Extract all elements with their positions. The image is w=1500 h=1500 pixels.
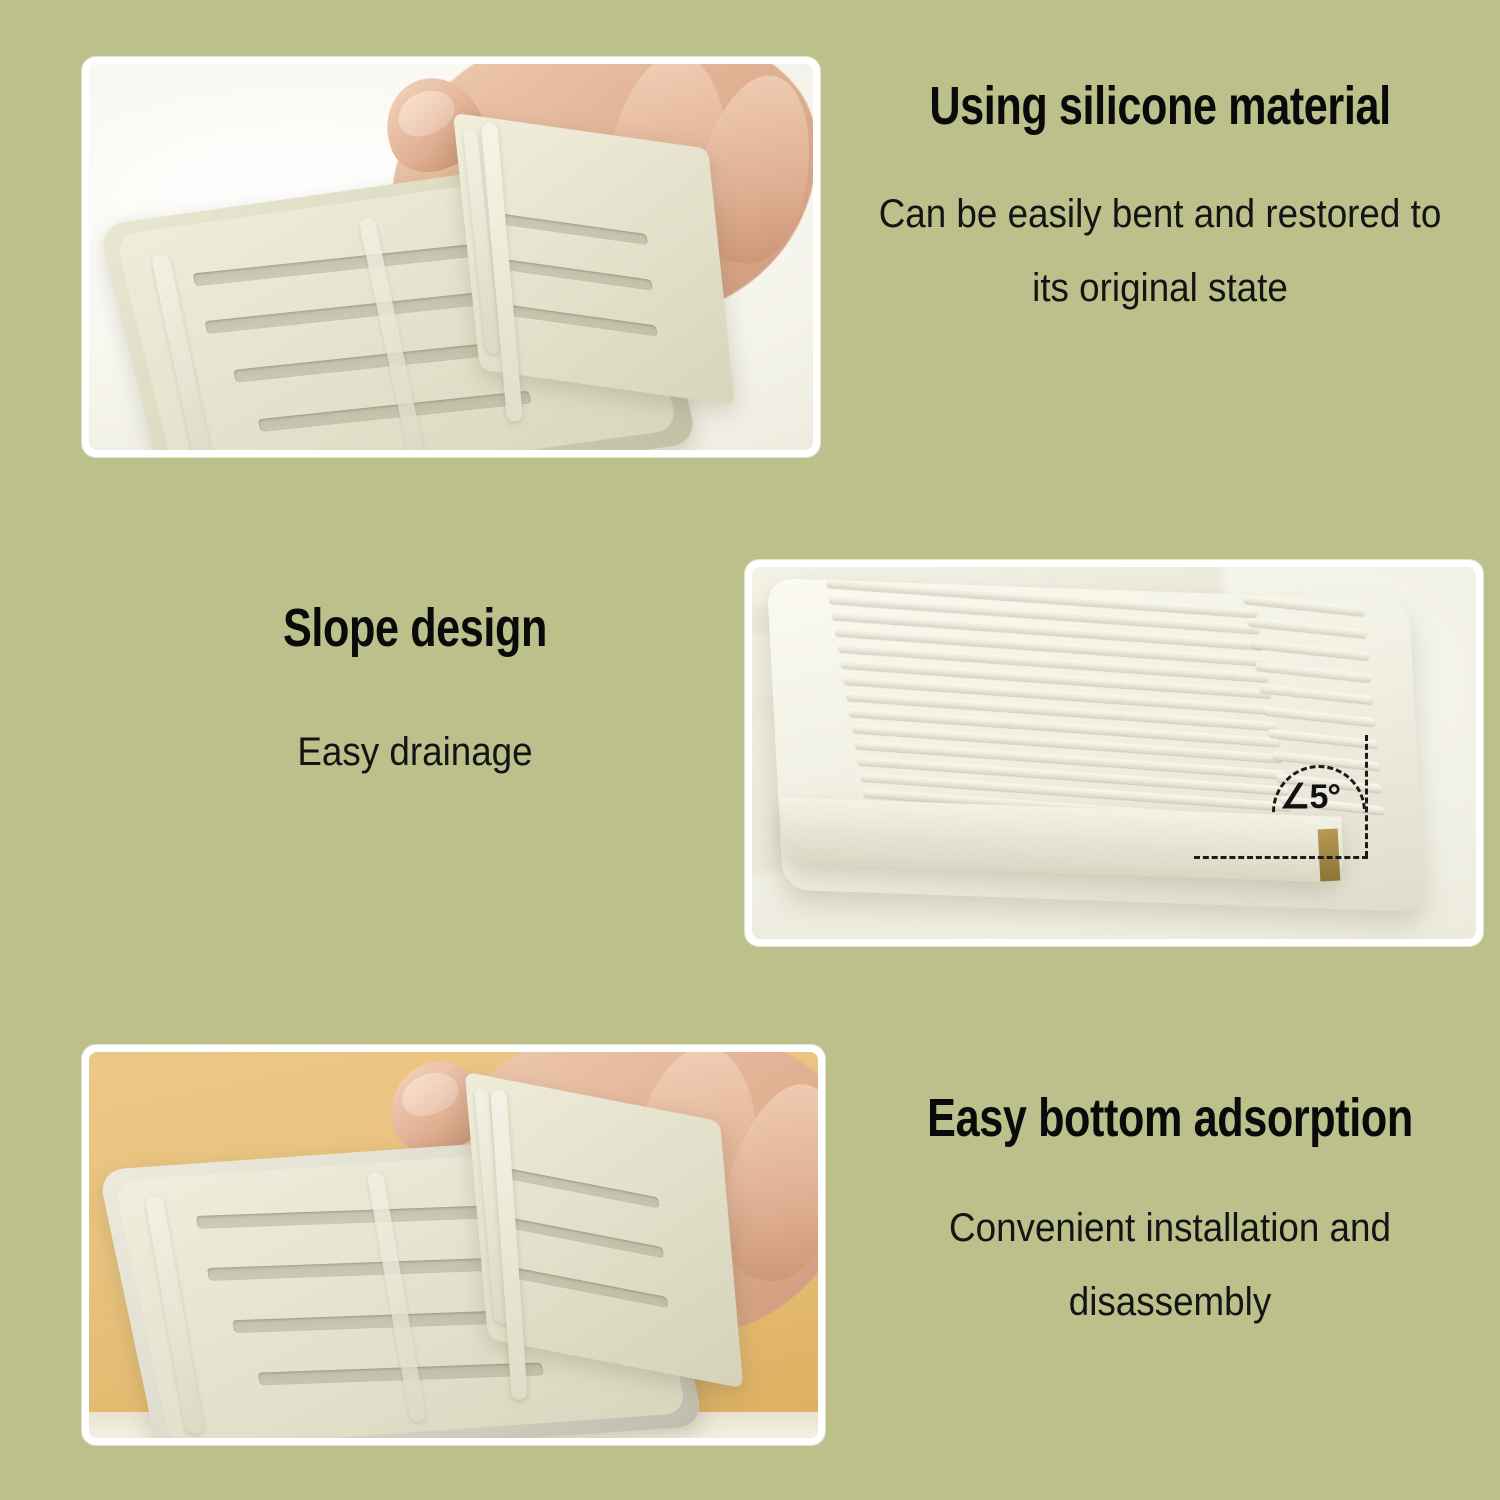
tray-slot: [510, 1218, 664, 1259]
tray-short-ridge: [1252, 640, 1369, 660]
photo-frame-silicone: [89, 64, 813, 450]
body-silicone-material: Can be easily bent and restored to its o…: [866, 177, 1455, 325]
ridged-slope-tray-photo: ∠5°: [752, 567, 1476, 939]
tray-short-ridge: [1264, 707, 1375, 727]
heading-silicone-material: Using silicone material: [904, 78, 1416, 135]
tray-short-ridge: [1260, 684, 1373, 704]
photo-panel-adsorption: [82, 1045, 825, 1445]
photo-panel-silicone: [82, 57, 820, 457]
photo-frame-adsorption: [89, 1052, 818, 1438]
body-line-1: Convenient installation and: [885, 1191, 1455, 1265]
feature-text-adsorption: Easy bottom adsorption Convenient instal…: [860, 1090, 1480, 1339]
tray-slot: [494, 213, 648, 245]
body-line-2: disassembly: [885, 1265, 1455, 1339]
hand-bending-silicone-tray-photo: [89, 64, 813, 450]
body-line-2: its original state: [866, 251, 1455, 325]
angle-vertical-dashed-line: [1365, 735, 1368, 857]
body-slope-design: Easy drainage: [199, 715, 631, 789]
feature-text-slope: Slope design Easy drainage: [180, 600, 650, 789]
tray-slot: [514, 1267, 668, 1308]
heading-slope-design: Slope design: [227, 600, 603, 657]
feature-text-silicone: Using silicone material Can be easily be…: [840, 78, 1480, 325]
tray-short-ridge: [1268, 729, 1377, 748]
angle-horizontal-dashed-line: [1194, 856, 1368, 859]
tray-slot: [503, 304, 657, 336]
angle-label-5-degrees: ∠5°: [1280, 777, 1340, 817]
body-line-1: Easy drainage: [199, 715, 631, 789]
heading-easy-bottom-adsorption: Easy bottom adsorption: [922, 1090, 1418, 1147]
tray-slot: [498, 258, 652, 290]
body-easy-bottom-adsorption: Convenient installation and disassembly: [885, 1191, 1455, 1339]
photo-frame-slope: ∠5°: [752, 567, 1476, 939]
tray-short-ridge: [1247, 618, 1366, 638]
photo-panel-slope: ∠5°: [745, 560, 1483, 946]
tray-slot: [505, 1168, 659, 1209]
infographic-canvas: Using silicone material Can be easily be…: [0, 0, 1500, 1500]
tray-short-ridge: [1256, 662, 1371, 682]
hand-holding-tray-tan-background-photo: [89, 1052, 818, 1438]
body-line-1: Can be easily bent and restored to: [866, 177, 1455, 251]
